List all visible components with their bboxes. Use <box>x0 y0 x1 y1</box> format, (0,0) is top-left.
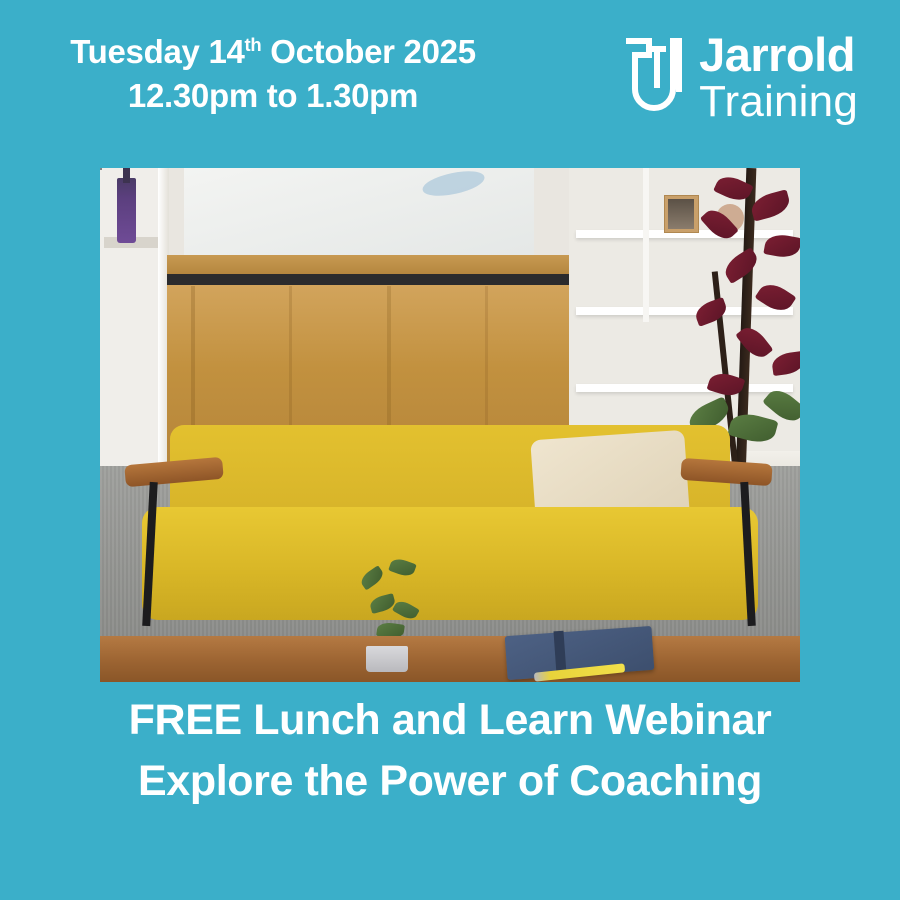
shelf-board <box>576 384 793 392</box>
green-leaf <box>392 598 419 622</box>
event-date-prefix: Tuesday 14 <box>70 33 244 70</box>
coffee-table <box>100 636 800 682</box>
green-leaf <box>359 565 386 590</box>
purple-bottle <box>117 178 137 242</box>
brand-name: Jarrold <box>699 32 858 78</box>
event-date-ordinal: th <box>245 34 262 55</box>
headline-block: FREE Lunch and Learn Webinar Explore the… <box>0 690 900 812</box>
shelf-board <box>576 307 793 315</box>
shelf-divider <box>643 168 649 322</box>
green-leaf <box>388 556 417 578</box>
headline-line-2: Explore the Power of Coaching <box>0 751 900 812</box>
wood-panel-shadow <box>167 274 573 285</box>
header: Tuesday 14th October 2025 12.30pm to 1.3… <box>0 0 900 168</box>
event-date-suffix: October 2025 <box>261 33 475 70</box>
event-date: Tuesday 14th October 2025 <box>18 30 528 74</box>
glass-vase <box>366 646 408 672</box>
brand-logo: Jarrold Training <box>623 32 858 123</box>
event-date-block: Tuesday 14th October 2025 12.30pm to 1.3… <box>18 30 528 117</box>
sofa-seat <box>142 507 758 620</box>
male-wristwatch <box>100 168 102 170</box>
framed-photo-image <box>668 199 695 229</box>
headline-line-1: FREE Lunch and Learn Webinar <box>0 690 900 751</box>
brand-wordmark: Jarrold Training <box>699 32 858 123</box>
event-time: 12.30pm to 1.30pm <box>18 74 528 118</box>
event-photo <box>100 168 800 682</box>
purple-bottle-neck <box>123 168 130 183</box>
wood-grain <box>485 286 488 430</box>
wood-panel-top <box>167 255 573 274</box>
brand-subname: Training <box>699 80 858 123</box>
jarrold-j-monogram-icon <box>623 35 685 117</box>
